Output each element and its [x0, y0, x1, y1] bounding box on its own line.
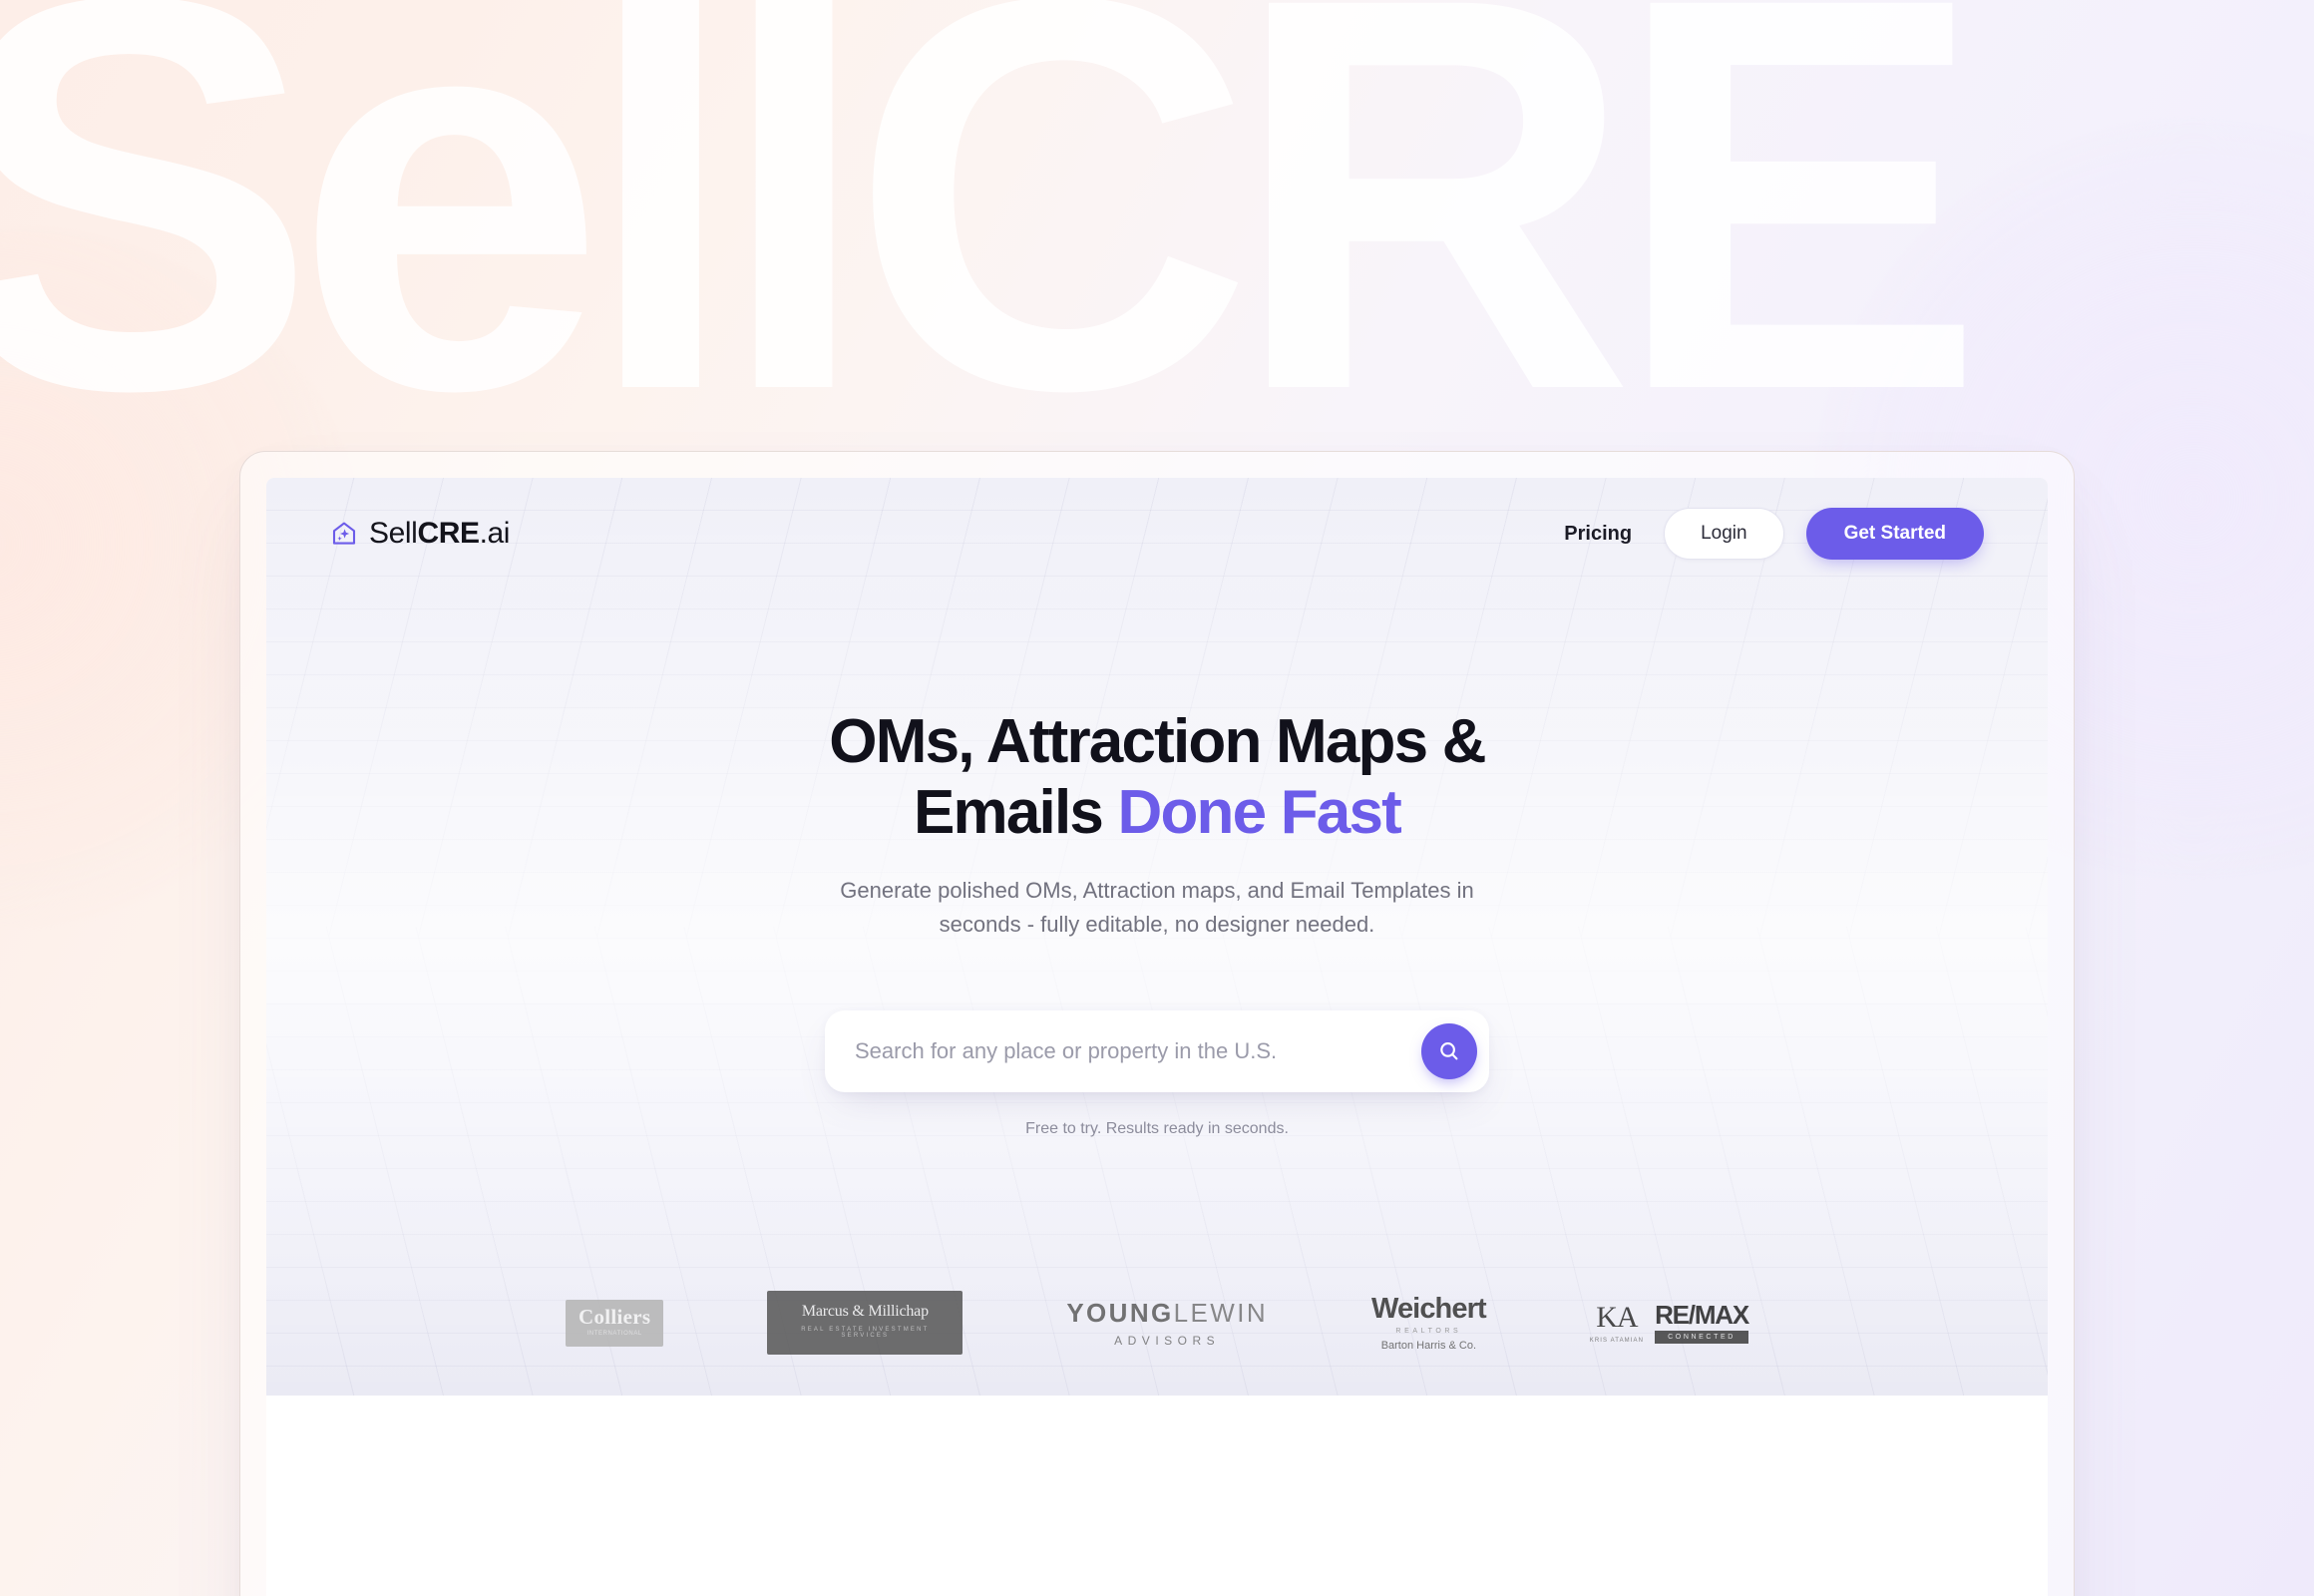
brand-tld: .ai: [480, 517, 511, 550]
logo-young-lewin-tagline: ADVISORS: [1066, 1335, 1268, 1347]
browser-mockup-screen: SellCRE.ai Pricing Login Get Started OMs…: [266, 478, 2048, 1596]
logo-remax: RE/MAX CONNECTED: [1655, 1302, 1748, 1344]
logo-weichert-tagline: REALTORS: [1371, 1328, 1486, 1335]
headline-line-1: OMs, Attraction Maps &: [829, 707, 1484, 776]
logo-kris-monogram: KA: [1590, 1303, 1644, 1333]
headline-line-2-plain: Emails: [914, 778, 1118, 847]
nav-link-pricing[interactable]: Pricing: [1554, 517, 1642, 552]
logo-colliers-name: Colliers: [578, 1307, 650, 1328]
logo-weichert-affiliate: Barton Harris & Co.: [1371, 1341, 1486, 1352]
logo-kris-name: KRIS ATAMIAN: [1590, 1338, 1644, 1344]
logo-remax-tagline: CONNECTED: [1655, 1331, 1748, 1344]
logo-kris-remax-pair: KA KRIS ATAMIAN RE/MAX CONNECTED: [1590, 1302, 1748, 1344]
background-watermark-text: SellCRE: [0, 0, 2314, 473]
below-fold-section: .: [266, 1396, 2048, 1596]
logo-weichert-name: Weichert: [1371, 1295, 1486, 1324]
logo-remax-name: RE/MAX: [1655, 1302, 1748, 1328]
logo-colliers: Colliers INTERNATIONAL: [566, 1300, 663, 1347]
logo-colliers-tagline: INTERNATIONAL: [578, 1331, 650, 1337]
get-started-button[interactable]: Get Started: [1806, 508, 1984, 560]
brand-logo[interactable]: SellCRE.ai: [330, 514, 510, 554]
brand-wordmark: SellCRE.ai: [369, 517, 510, 551]
logo-young-lewin: YOUNGLEWIN ADVISORS: [1066, 1300, 1268, 1347]
page-title: OMs, Attraction Maps & Emails Done Fast: [829, 707, 1484, 848]
page-root: SellCRE SellCRE.ai: [0, 0, 2314, 1596]
search-input[interactable]: [855, 1023, 1421, 1079]
browser-mockup-frame: SellCRE.ai Pricing Login Get Started OMs…: [239, 451, 2075, 1596]
headline-line-2-accent: Done Fast: [1118, 778, 1401, 847]
search-helper-text: Free to try. Results ready in seconds.: [1025, 1120, 1289, 1138]
hero-section: SellCRE.ai Pricing Login Get Started OMs…: [266, 478, 2048, 1396]
client-logo-strip: Colliers INTERNATIONAL Marcus & Millicha…: [266, 1286, 2048, 1360]
logo-kris-atamian: KA KRIS ATAMIAN: [1590, 1303, 1644, 1344]
logo-marcus-name: Marcus & Millichap: [779, 1304, 951, 1320]
navbar-actions: Pricing Login Get Started: [1554, 508, 1984, 560]
top-navbar: SellCRE.ai Pricing Login Get Started: [266, 478, 2048, 590]
search-bar[interactable]: [825, 1010, 1489, 1092]
brand-bold: CRE: [417, 517, 479, 550]
brand-prefix: Sell: [369, 517, 417, 550]
login-button[interactable]: Login: [1664, 508, 1784, 560]
search-submit-button[interactable]: [1421, 1023, 1477, 1079]
hero-content: OMs, Attraction Maps & Emails Done Fast …: [266, 590, 2048, 1138]
logo-young-lewin-name: YOUNGLEWIN: [1066, 1300, 1268, 1326]
logo-weichert: Weichert REALTORS Barton Harris & Co.: [1371, 1295, 1486, 1352]
logo-marcus-tagline: REAL ESTATE INVESTMENT SERVICES: [779, 1327, 951, 1339]
logo-young-lewin-thin: LEWIN: [1174, 1298, 1268, 1328]
search-icon: [1437, 1039, 1461, 1063]
logo-young-lewin-bold: YOUNG: [1066, 1298, 1173, 1328]
hero-subtitle: Generate polished OMs, Attraction maps, …: [838, 874, 1476, 941]
home-sparkle-icon: [330, 520, 358, 548]
logo-marcus-millichap: Marcus & Millichap REAL ESTATE INVESTMEN…: [767, 1291, 963, 1355]
